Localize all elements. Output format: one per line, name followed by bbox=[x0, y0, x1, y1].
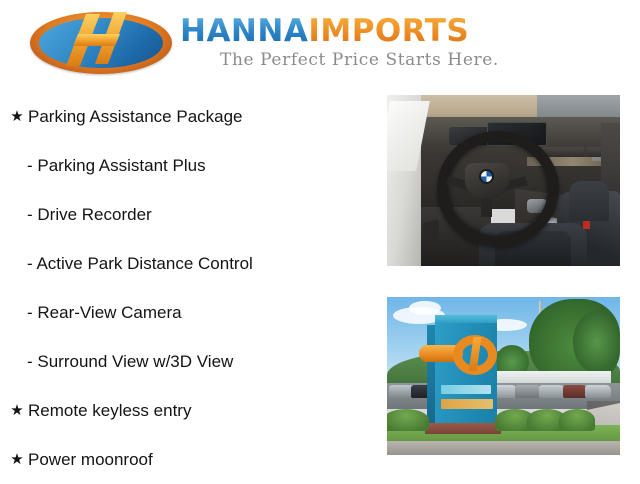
list-item-label: - Parking Assistant Plus bbox=[27, 141, 206, 190]
header-banner: HANNAIMPORTS The Perfect Price Starts He… bbox=[0, 0, 640, 88]
parked-car bbox=[515, 385, 541, 398]
list-item-label: Remote keyless entry bbox=[28, 386, 191, 435]
list-item: - Parking Assistant Plus bbox=[0, 141, 380, 190]
list-item: - Active Park Distance Control bbox=[0, 239, 380, 288]
brand-imports-text: IMPORTS bbox=[308, 13, 469, 49]
list-item-label: - Surround View w/3D View bbox=[27, 337, 233, 386]
star-bullet-icon: ★ bbox=[8, 92, 26, 141]
slide-canvas: HANNAIMPORTS The Perfect Price Starts He… bbox=[0, 0, 640, 480]
list-item: - Surround View w/3D View bbox=[0, 337, 380, 386]
sign-imports-text bbox=[441, 399, 493, 409]
brand-hanna-text: HANNA bbox=[180, 13, 308, 49]
tree bbox=[573, 311, 620, 373]
vehicle-interior-photo bbox=[387, 95, 620, 266]
passenger-seat-back bbox=[569, 181, 609, 221]
star-bullet-icon: ★ bbox=[8, 386, 26, 435]
sign-hanna-text bbox=[441, 385, 491, 394]
feature-list: ★ Parking Assistance Package - Parking A… bbox=[0, 92, 380, 480]
hedge bbox=[559, 409, 595, 431]
parked-car bbox=[539, 385, 565, 398]
cloud bbox=[409, 301, 441, 315]
monument-sign-cap bbox=[435, 315, 497, 323]
sidewalk bbox=[387, 441, 620, 455]
list-item-label: Power moonroof bbox=[28, 435, 153, 484]
hedge bbox=[387, 409, 429, 431]
star-bullet-icon: ★ bbox=[8, 435, 26, 484]
list-item-label: Parking Assistance Package bbox=[28, 92, 243, 141]
list-item: ★ Parking Assistance Package bbox=[0, 92, 380, 141]
logo-h-monogram-icon bbox=[28, 8, 170, 70]
list-item: - Rear-View Camera bbox=[0, 288, 380, 337]
dealership-sign-photo bbox=[387, 297, 620, 455]
logo-wordmark: HANNAIMPORTS The Perfect Price Starts He… bbox=[180, 14, 530, 76]
seat-belt-marker bbox=[583, 221, 590, 229]
tagline-text: The Perfect Price Starts Here. bbox=[220, 50, 499, 70]
parked-car bbox=[563, 385, 587, 398]
list-item-label: - Drive Recorder bbox=[27, 190, 152, 239]
list-item-label: - Rear-View Camera bbox=[27, 288, 182, 337]
parked-car bbox=[585, 385, 611, 398]
list-item: - Drive Recorder bbox=[0, 190, 380, 239]
list-item: ★ Power moonroof bbox=[0, 435, 380, 484]
bmw-roundel-icon bbox=[479, 169, 494, 184]
list-item: ★ Remote keyless entry bbox=[0, 386, 380, 435]
dealer-logo: HANNAIMPORTS The Perfect Price Starts He… bbox=[28, 8, 528, 80]
brand-line: HANNAIMPORTS bbox=[180, 14, 469, 48]
pedal bbox=[423, 219, 439, 247]
list-item-label: - Active Park Distance Control bbox=[27, 239, 253, 288]
brick-base bbox=[425, 423, 501, 434]
